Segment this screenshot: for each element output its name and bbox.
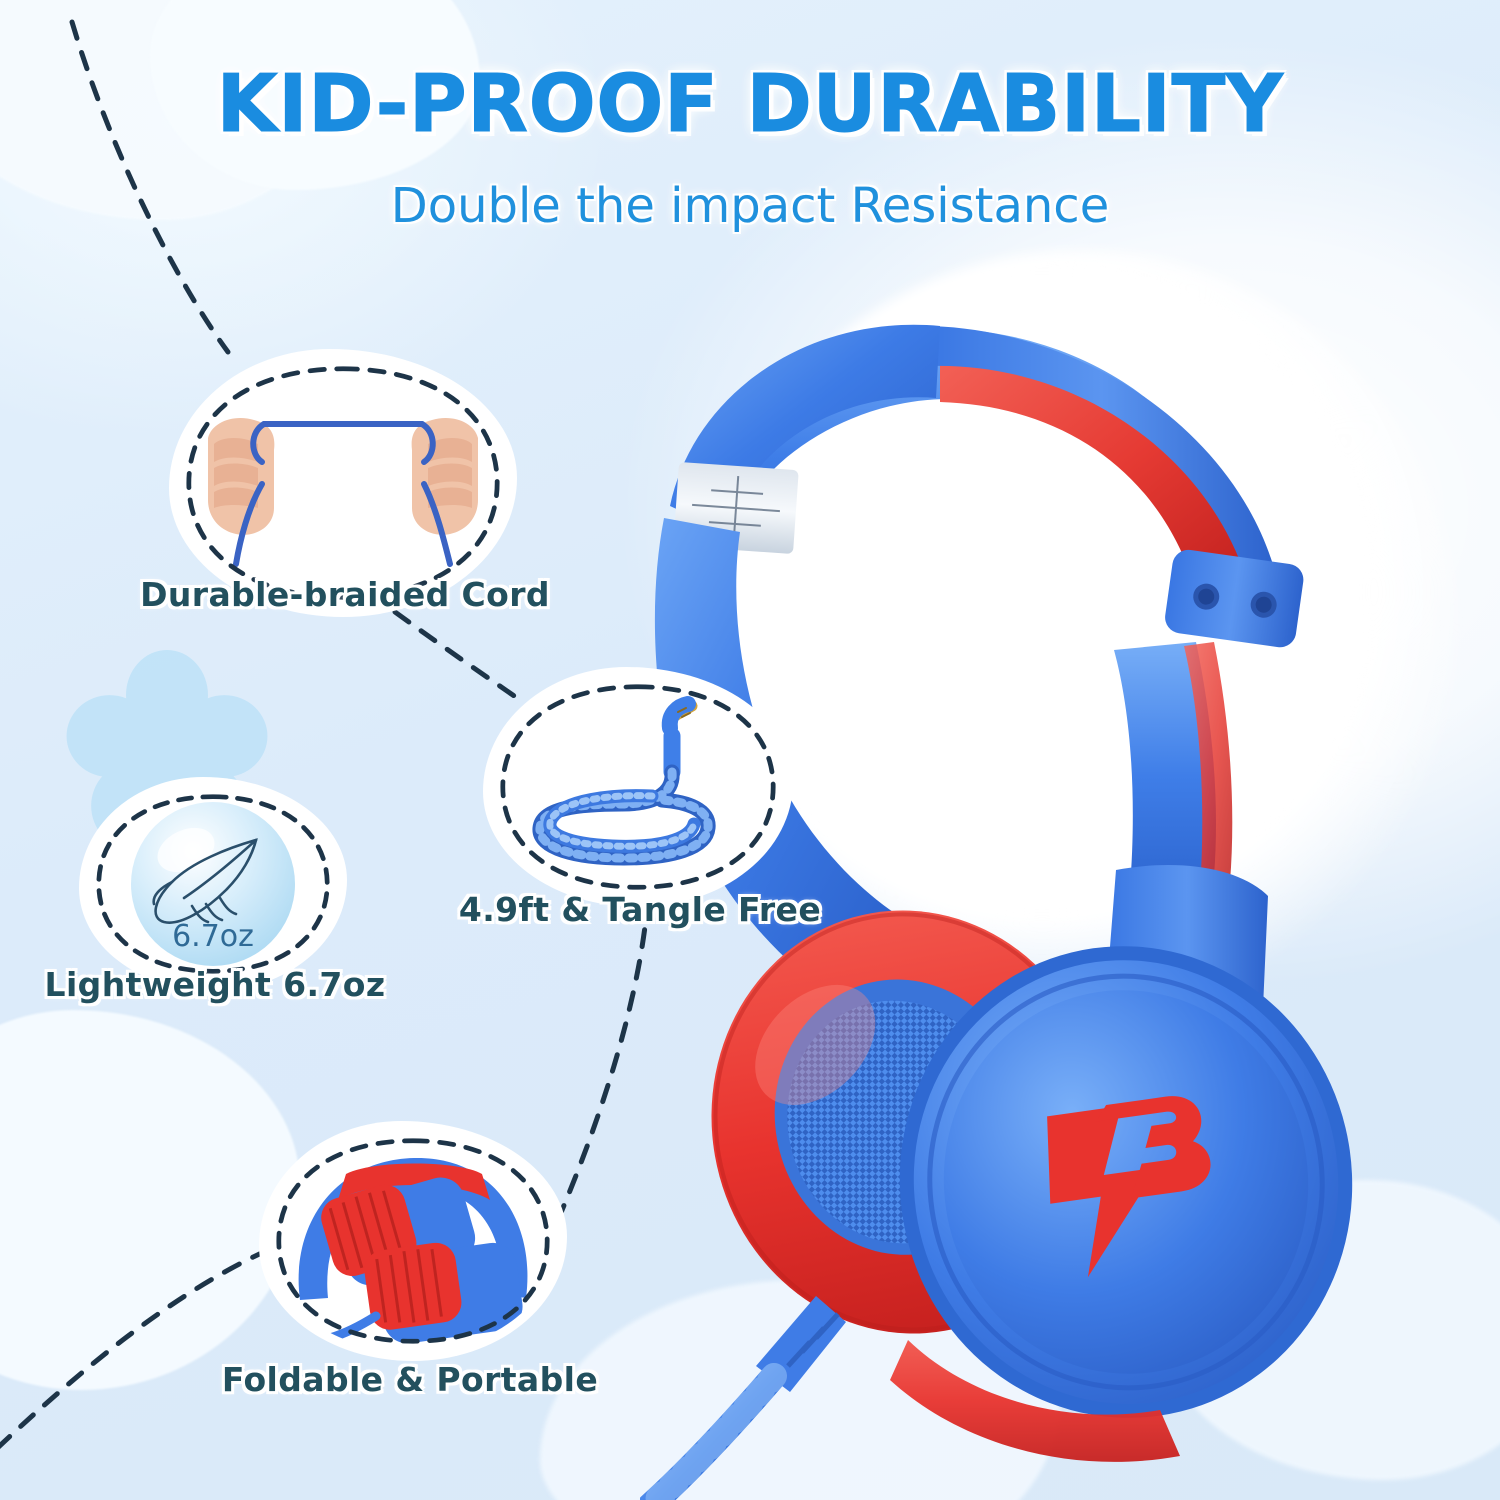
bubble-dashed-border	[95, 793, 331, 975]
feature-bubble-durable-cord	[178, 358, 508, 608]
feature-bubble-lightweight: 6.7oz	[88, 786, 338, 982]
feature-bubble-cable-length	[492, 676, 784, 898]
feature-caption-foldable: Foldable & Portable	[200, 1360, 620, 1399]
product-feature-poster: KID-PROOF DURABILITY Double the impact R…	[0, 0, 1500, 1500]
page-subtitle: Double the impact Resistance	[0, 178, 1500, 234]
page-title-text: KID-PROOF DURABILITY	[216, 58, 1283, 150]
cloud-shape-bottom-left	[0, 1010, 300, 1390]
page-title: KID-PROOF DURABILITY	[0, 58, 1500, 150]
page-subtitle-text: Double the impact Resistance	[391, 178, 1109, 234]
bubble-dashed-border	[185, 365, 501, 601]
feature-caption-durable-cord: Durable-braided Cord	[100, 575, 590, 614]
bubble-dashed-border	[275, 1137, 551, 1345]
feature-bubble-foldable	[268, 1130, 558, 1352]
feature-caption-cable-length: 4.9ft & Tangle Free	[430, 890, 850, 929]
bubble-dashed-border	[499, 683, 777, 891]
feature-caption-lightweight: Lightweight 6.7oz	[25, 965, 405, 1004]
